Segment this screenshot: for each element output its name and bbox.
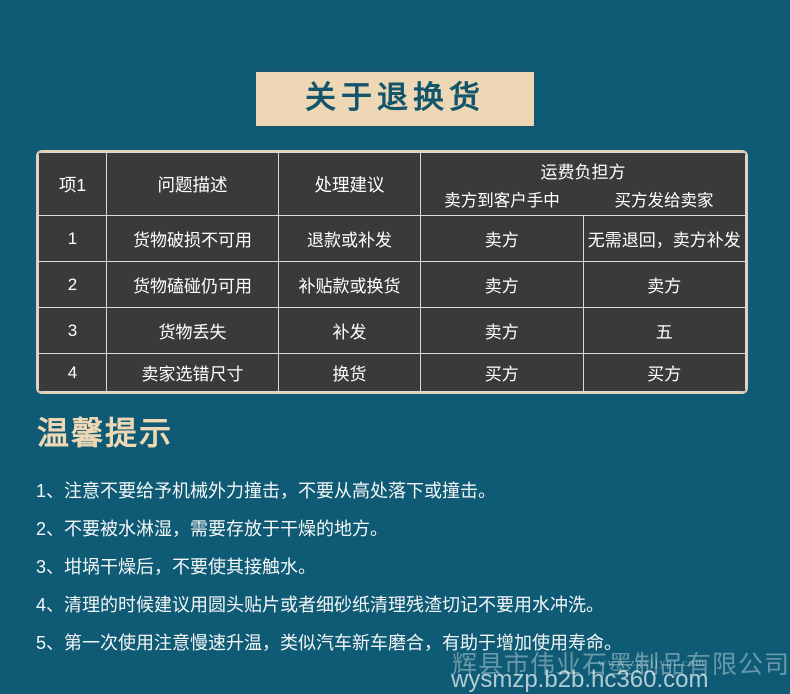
page-title: 关于退换货	[300, 80, 490, 116]
cell-ship-seller-to-customer: 买方	[421, 354, 584, 392]
header-shipping-subcolumns: 卖方到客户手中 买方发给卖家	[421, 185, 745, 215]
cell-ship-buyer-to-seller: 卖方	[583, 262, 746, 308]
table-row: 3 货物丢失 补发 卖方 五	[39, 308, 746, 354]
table-row: 1 货物破损不可用 退款或补发 卖方 无需退回，卖方补发	[39, 216, 746, 262]
cell-ship-buyer-to-seller: 五	[583, 308, 746, 354]
tips-list: 1、注意不要给予机械外力撞击，不要从高处落下或撞击。 2、不要被水淋湿，需要存放…	[36, 472, 756, 662]
header-cell-index: 项1	[39, 153, 107, 216]
cell-index: 4	[39, 354, 107, 392]
header-cell-ship-seller-to-customer: 卖方到客户手中	[421, 185, 583, 215]
cell-index: 1	[39, 216, 107, 262]
cell-ship-buyer-to-seller: 买方	[583, 354, 746, 392]
cell-index: 3	[39, 308, 107, 354]
list-item: 5、第一次使用注意慢速升温，类似汽车新车磨合，有助于增加使用寿命。	[36, 624, 756, 662]
header-cell-description: 问题描述	[107, 153, 279, 216]
cell-ship-seller-to-customer: 卖方	[421, 308, 584, 354]
cell-description: 货物磕碰仍可用	[107, 262, 279, 308]
table-row: 2 货物磕碰仍可用 补贴款或换货 卖方 卖方	[39, 262, 746, 308]
cell-suggestion: 补贴款或换货	[279, 262, 421, 308]
cell-ship-seller-to-customer: 卖方	[421, 262, 584, 308]
cell-description: 货物破损不可用	[107, 216, 279, 262]
header-cell-ship-buyer-to-seller: 买方发给卖家	[583, 185, 745, 215]
list-item: 3、坩埚干燥后，不要使其接触水。	[36, 548, 756, 586]
cell-index: 2	[39, 262, 107, 308]
return-policy-table-container: 项1 问题描述 处理建议 运费负担方 卖方到客户手中 买方发给卖家 1 货物破损…	[36, 150, 748, 394]
header-cell-suggestion: 处理建议	[279, 153, 421, 216]
cell-description: 货物丢失	[107, 308, 279, 354]
watermark-website-secondary: wysmzp.b2b.hc360.com	[451, 666, 708, 694]
list-item: 2、不要被水淋湿，需要存放于干燥的地方。	[36, 510, 756, 548]
cell-ship-seller-to-customer: 卖方	[421, 216, 584, 262]
header-shipping-group-label: 运费负担方	[421, 153, 745, 185]
table-row: 4 卖家选错尺寸 换货 买方 买方	[39, 354, 746, 392]
tips-heading: 温馨提示	[37, 412, 173, 454]
cell-suggestion: 退款或补发	[279, 216, 421, 262]
cell-ship-buyer-to-seller: 无需退回，卖方补发	[583, 216, 746, 262]
cell-suggestion: 换货	[279, 354, 421, 392]
table-header-row: 项1 问题描述 处理建议 运费负担方 卖方到客户手中 买方发给卖家	[39, 153, 746, 216]
return-policy-table: 项1 问题描述 处理建议 运费负担方 卖方到客户手中 买方发给卖家 1 货物破损…	[38, 152, 746, 392]
list-item: 1、注意不要给予机械外力撞击，不要从高处落下或撞击。	[36, 472, 756, 510]
page-title-banner: 关于退换货	[0, 70, 790, 128]
title-box: 关于退换货	[254, 70, 536, 128]
list-item: 4、清理的时候建议用圆头贴片或者细砂纸清理残渣切记不要用水冲洗。	[36, 586, 756, 624]
cell-description: 卖家选错尺寸	[107, 354, 279, 392]
header-cell-shipping-group: 运费负担方 卖方到客户手中 买方发给卖家	[421, 153, 746, 216]
cell-suggestion: 补发	[279, 308, 421, 354]
